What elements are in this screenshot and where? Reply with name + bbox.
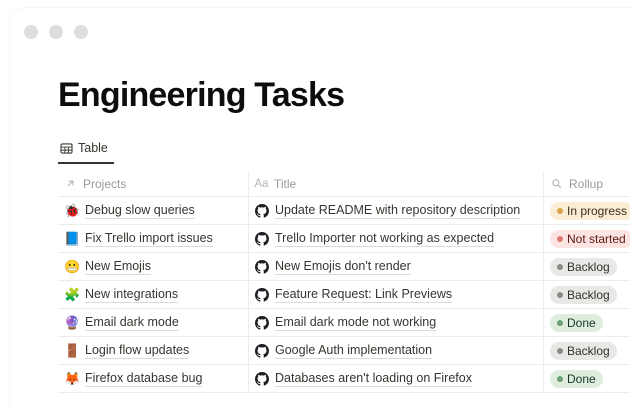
cell-project[interactable]: 🐞Debug slow queries <box>58 197 248 225</box>
status-badge[interactable]: Backlog <box>550 286 617 304</box>
github-icon <box>255 260 269 274</box>
project-emoji-icon: 🦊 <box>64 372 79 385</box>
cell-project[interactable]: 🔮Email dark mode <box>58 309 248 337</box>
tasks-table: Projects Aa Title Rollup 🐞Debug slow que… <box>58 171 630 393</box>
cell-rollup[interactable]: Done <box>543 365 630 393</box>
status-badge-label: Backlog <box>567 258 610 276</box>
maximize-icon[interactable] <box>74 25 88 39</box>
close-icon[interactable] <box>24 25 38 39</box>
cell-rollup[interactable]: Backlog <box>543 253 630 281</box>
table-header-row: Projects Aa Title Rollup <box>58 171 630 197</box>
cell-title[interactable]: New Emojis don't render <box>248 253 543 281</box>
status-badge-label: In progress <box>567 202 627 220</box>
status-dot-icon <box>557 264 563 270</box>
status-badge-label: Backlog <box>567 286 610 304</box>
issue-title-link[interactable]: Email dark mode not working <box>275 314 436 331</box>
project-name-link[interactable]: New integrations <box>85 286 178 303</box>
status-badge-label: Done <box>567 314 596 332</box>
github-icon <box>255 232 269 246</box>
cell-project[interactable]: 📘Fix Trello import issues <box>58 225 248 253</box>
cell-title[interactable]: Update README with repository descriptio… <box>248 197 543 225</box>
status-dot-icon <box>557 236 563 242</box>
project-name-link[interactable]: New Emojis <box>85 258 151 275</box>
cell-project[interactable]: 🚪Login flow updates <box>58 337 248 365</box>
github-icon <box>255 372 269 386</box>
project-name-link[interactable]: Login flow updates <box>85 342 189 359</box>
relation-arrow-icon <box>64 178 77 189</box>
view-tabs: Table <box>58 141 114 164</box>
github-icon <box>255 288 269 302</box>
table-row[interactable]: 🐞Debug slow queriesUpdate README with re… <box>58 197 630 225</box>
issue-title-link[interactable]: Google Auth implementation <box>275 342 432 359</box>
status-dot-icon <box>557 208 563 214</box>
project-name-link[interactable]: Email dark mode <box>85 314 179 331</box>
project-emoji-icon: 🔮 <box>64 316 79 329</box>
project-name-link[interactable]: Fix Trello import issues <box>85 230 213 247</box>
issue-title-link[interactable]: New Emojis don't render <box>275 258 411 275</box>
status-badge[interactable]: In progress <box>550 202 630 220</box>
status-badge[interactable]: Backlog <box>550 258 617 276</box>
cell-title[interactable]: Trello Importer not working as expected <box>248 225 543 253</box>
status-dot-icon <box>557 348 563 354</box>
status-badge[interactable]: Done <box>550 314 603 332</box>
cell-title[interactable]: Google Auth implementation <box>248 337 543 365</box>
cell-rollup[interactable]: Done <box>543 309 630 337</box>
project-emoji-icon: 📘 <box>64 232 79 245</box>
status-dot-icon <box>557 376 563 382</box>
cell-title[interactable]: Databases aren't loading on Firefox <box>248 365 543 393</box>
text-aa-icon: Aa <box>255 178 268 190</box>
github-icon <box>255 204 269 218</box>
project-emoji-icon: 🚪 <box>64 344 79 357</box>
table-row[interactable]: 🔮Email dark modeEmail dark mode not work… <box>58 309 630 337</box>
tab-table[interactable]: Table <box>58 141 114 164</box>
cell-title[interactable]: Feature Request: Link Previews <box>248 281 543 309</box>
status-badge[interactable]: Not started <box>550 230 630 248</box>
status-badge[interactable]: Done <box>550 370 603 388</box>
search-icon <box>550 178 563 189</box>
cell-rollup[interactable]: In progress <box>543 197 630 225</box>
status-badge-label: Backlog <box>567 342 610 360</box>
table-row[interactable]: 🦊Firefox database bugDatabases aren't lo… <box>58 365 630 393</box>
page-title: Engineering Tasks <box>58 74 344 116</box>
issue-title-link[interactable]: Update README with repository descriptio… <box>275 202 520 219</box>
table-body: 🐞Debug slow queriesUpdate README with re… <box>58 197 630 393</box>
issue-title-link[interactable]: Databases aren't loading on Firefox <box>275 370 472 387</box>
table-row[interactable]: 📘Fix Trello import issuesTrello Importer… <box>58 225 630 253</box>
cell-project[interactable]: 🦊Firefox database bug <box>58 365 248 393</box>
cell-rollup[interactable]: Backlog <box>543 281 630 309</box>
cell-title[interactable]: Email dark mode not working <box>248 309 543 337</box>
table-row[interactable]: 😬New EmojisNew Emojis don't renderBacklo… <box>58 253 630 281</box>
github-icon <box>255 316 269 330</box>
project-emoji-icon: 😬 <box>64 260 79 273</box>
column-header-title[interactable]: Aa Title <box>248 171 543 197</box>
status-badge[interactable]: Backlog <box>550 342 617 360</box>
tab-table-label: Table <box>78 141 108 155</box>
table-row[interactable]: 🚪Login flow updatesGoogle Auth implement… <box>58 337 630 365</box>
github-icon <box>255 344 269 358</box>
issue-title-link[interactable]: Feature Request: Link Previews <box>275 286 452 303</box>
cell-project[interactable]: 🧩New integrations <box>58 281 248 309</box>
issue-title-link[interactable]: Trello Importer not working as expected <box>275 230 494 247</box>
column-header-title-label: Title <box>274 177 296 191</box>
minimize-icon[interactable] <box>49 25 63 39</box>
project-name-link[interactable]: Firefox database bug <box>85 370 202 387</box>
window-controls <box>24 25 88 39</box>
app-window: Engineering Tasks Table Projects <box>10 8 630 408</box>
project-emoji-icon: 🐞 <box>64 204 79 217</box>
column-header-projects-label: Projects <box>83 177 126 191</box>
project-name-link[interactable]: Debug slow queries <box>85 202 195 219</box>
column-header-rollup[interactable]: Rollup <box>543 171 630 197</box>
column-header-projects[interactable]: Projects <box>58 171 248 197</box>
table-icon <box>60 142 73 155</box>
status-badge-label: Done <box>567 370 596 388</box>
status-dot-icon <box>557 320 563 326</box>
cell-rollup[interactable]: Backlog <box>543 337 630 365</box>
project-emoji-icon: 🧩 <box>64 288 79 301</box>
column-header-rollup-label: Rollup <box>569 177 603 191</box>
status-badge-label: Not started <box>567 230 626 248</box>
cell-rollup[interactable]: Not started <box>543 225 630 253</box>
cell-project[interactable]: 😬New Emojis <box>58 253 248 281</box>
status-dot-icon <box>557 292 563 298</box>
table-row[interactable]: 🧩New integrationsFeature Request: Link P… <box>58 281 630 309</box>
